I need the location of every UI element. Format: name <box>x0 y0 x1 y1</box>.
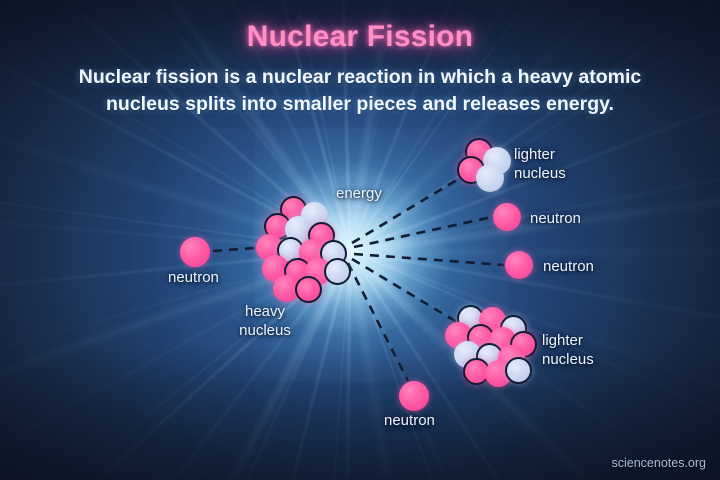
label-neutron-bottom: neutron <box>384 411 435 430</box>
free-neutron-neutron-top-right <box>493 203 521 231</box>
infographic-canvas: Nuclear Fission Nuclear fission is a nuc… <box>0 0 720 480</box>
label-energy: energy <box>336 184 382 203</box>
trajectory-dashed-line <box>354 254 504 265</box>
neutron-sphere <box>505 357 532 384</box>
nucleus-cluster-lighter-nucleus-bottom <box>443 305 535 387</box>
free-neutron-neutron-mid-right <box>505 251 533 279</box>
label-neutron-top-right: neutron <box>530 209 581 228</box>
neutron-sphere <box>324 258 351 285</box>
label-incoming-neutron: neutron <box>168 268 219 287</box>
free-neutron-incoming-neutron <box>180 237 210 267</box>
nucleus-cluster-lighter-nucleus-top <box>457 138 511 192</box>
proton-sphere <box>295 276 322 303</box>
trajectory-dashed-line <box>348 263 408 381</box>
label-lighter-nucleus-top: lighter nucleus <box>514 145 566 183</box>
label-lighter-nucleus-bottom: lighter nucleus <box>542 331 594 369</box>
free-neutron-neutron-bottom <box>399 381 429 411</box>
neutron-sphere <box>476 164 504 192</box>
trajectory-dashed-line <box>352 172 470 243</box>
fission-trajectory-lines <box>0 0 720 480</box>
label-heavy-nucleus: heavy nucleus <box>195 302 335 340</box>
nucleus-cluster-heavy-nucleus <box>256 196 354 304</box>
label-neutron-mid-right: neutron <box>543 257 594 276</box>
site-watermark: sciencenotes.org <box>611 456 706 470</box>
trajectory-dashed-line <box>354 217 492 247</box>
